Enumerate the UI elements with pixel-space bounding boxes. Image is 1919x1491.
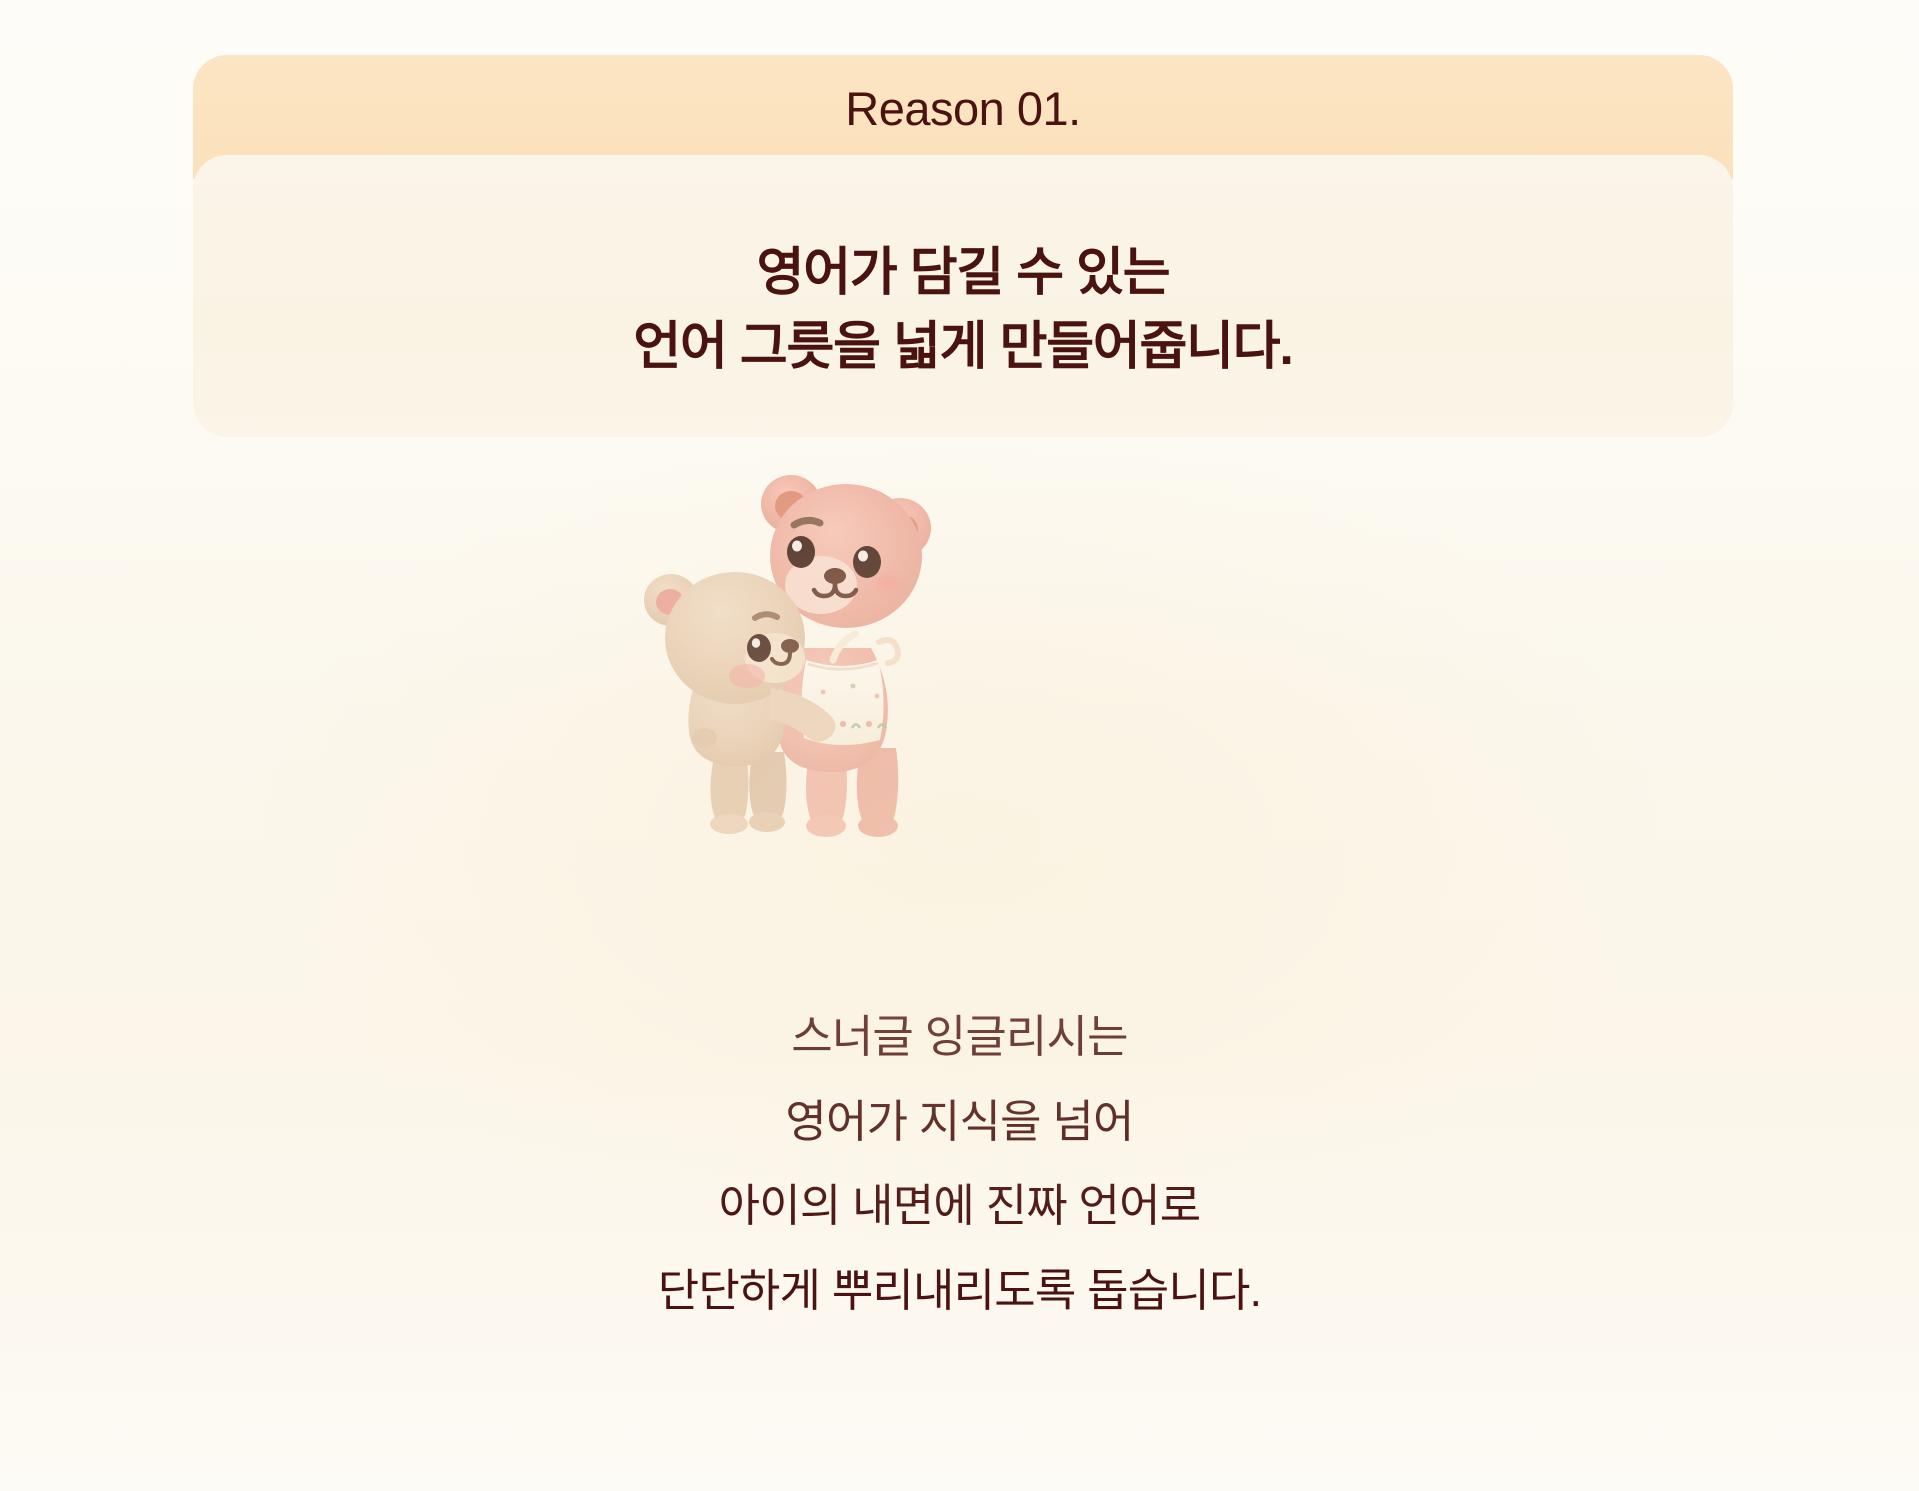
headline-text: 영어가 담길 수 있는 언어 그릇을 넓게 만들어줍니다. xyxy=(193,237,1733,385)
body-paragraph: 스너글 잉글리시는 영어가 지식을 넘어 아이의 내면에 진짜 언어로 단단하게… xyxy=(0,995,1919,1333)
reason-label: Reason 01. xyxy=(193,85,1733,132)
two-hugging-bears-illustration xyxy=(595,452,1015,872)
reason-card: Reason 01. 영어가 담길 수 있는 언어 그릇을 넓게 만들어줍니다. xyxy=(193,55,1733,437)
promo-page: Reason 01. 영어가 담길 수 있는 언어 그릇을 넓게 만들어줍니다. xyxy=(0,0,1919,1491)
headline-card: 영어가 담길 수 있는 언어 그릇을 넓게 만들어줍니다. xyxy=(193,155,1733,437)
